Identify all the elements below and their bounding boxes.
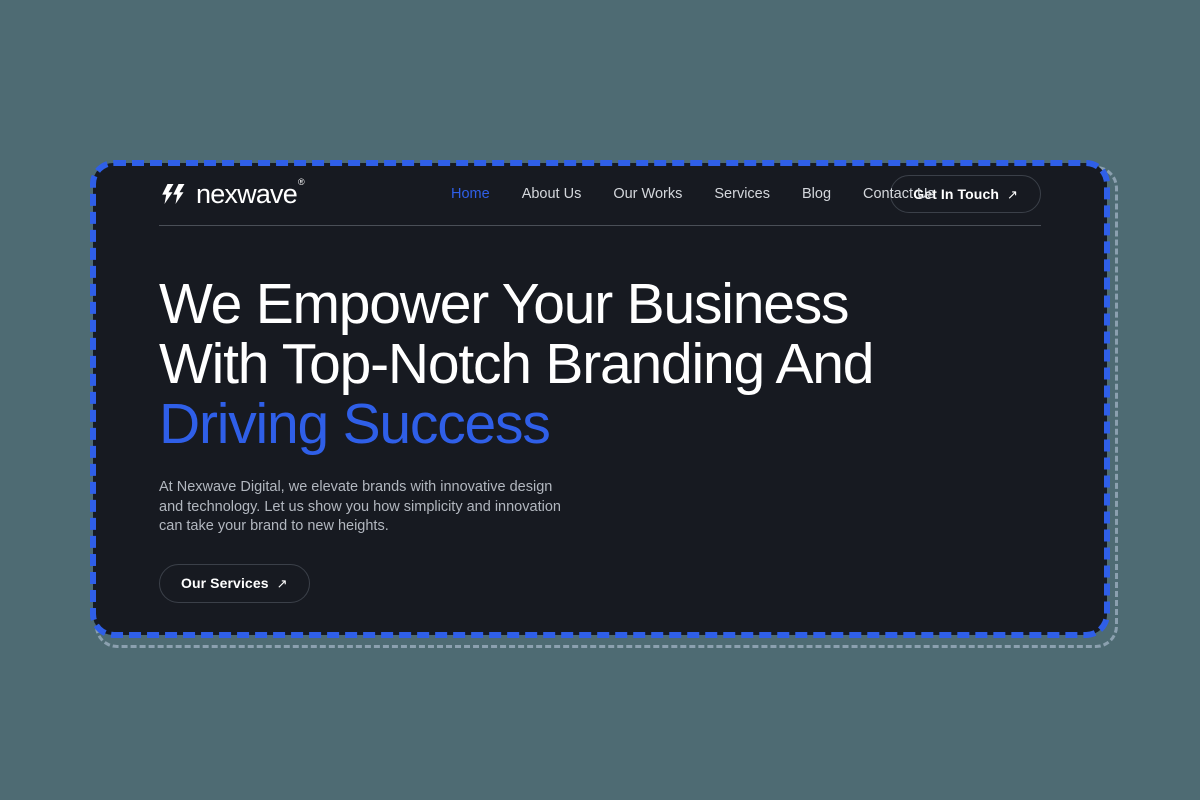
website-preview-card: nexwave® Home About Us Our Works Service… xyxy=(93,163,1107,635)
hero-cta-wrapper: Our Services ↗ xyxy=(159,564,1041,603)
site-header: nexwave® Home About Us Our Works Service… xyxy=(159,163,1041,225)
paragraph-line-3: can take your brand to new heights. xyxy=(159,517,579,537)
nav-item-contact-us[interactable]: Contact Us xyxy=(863,186,935,202)
hero-paragraph: At Nexwave Digital, we elevate brands wi… xyxy=(159,478,579,537)
headline-accent-line: Driving Success xyxy=(159,394,1041,454)
our-services-label: Our Services xyxy=(181,575,269,591)
nav-item-services[interactable]: Services xyxy=(714,186,770,202)
our-services-button[interactable]: Our Services ↗ xyxy=(159,564,310,603)
headline-line-2: With Top-Notch Branding And xyxy=(159,334,1041,394)
primary-navigation: Home About Us Our Works Services Blog Co… xyxy=(451,186,935,202)
hero-section: We Empower Your Business With Top-Notch … xyxy=(93,226,1107,603)
paragraph-line-2: and technology. Let us show you how simp… xyxy=(159,498,579,518)
nav-item-our-works[interactable]: Our Works xyxy=(613,186,682,202)
brand-logo[interactable]: nexwave® xyxy=(159,181,303,208)
element-selection-wrapper[interactable]: nexwave® Home About Us Our Works Service… xyxy=(90,160,1110,638)
nav-item-about-us[interactable]: About Us xyxy=(522,186,582,202)
brand-name: nexwave® xyxy=(196,181,303,208)
arrow-up-right-icon: ↗ xyxy=(1007,188,1018,201)
arrow-up-right-icon: ↗ xyxy=(277,577,288,590)
hero-headline: We Empower Your Business With Top-Notch … xyxy=(159,274,1041,454)
nexwave-bolt-icon xyxy=(159,184,189,204)
brand-registered-mark: ® xyxy=(298,177,304,187)
headline-line-1: We Empower Your Business xyxy=(159,274,1041,334)
nav-item-home[interactable]: Home xyxy=(451,186,490,202)
nav-item-blog[interactable]: Blog xyxy=(802,186,831,202)
paragraph-line-1: At Nexwave Digital, we elevate brands wi… xyxy=(159,478,579,498)
